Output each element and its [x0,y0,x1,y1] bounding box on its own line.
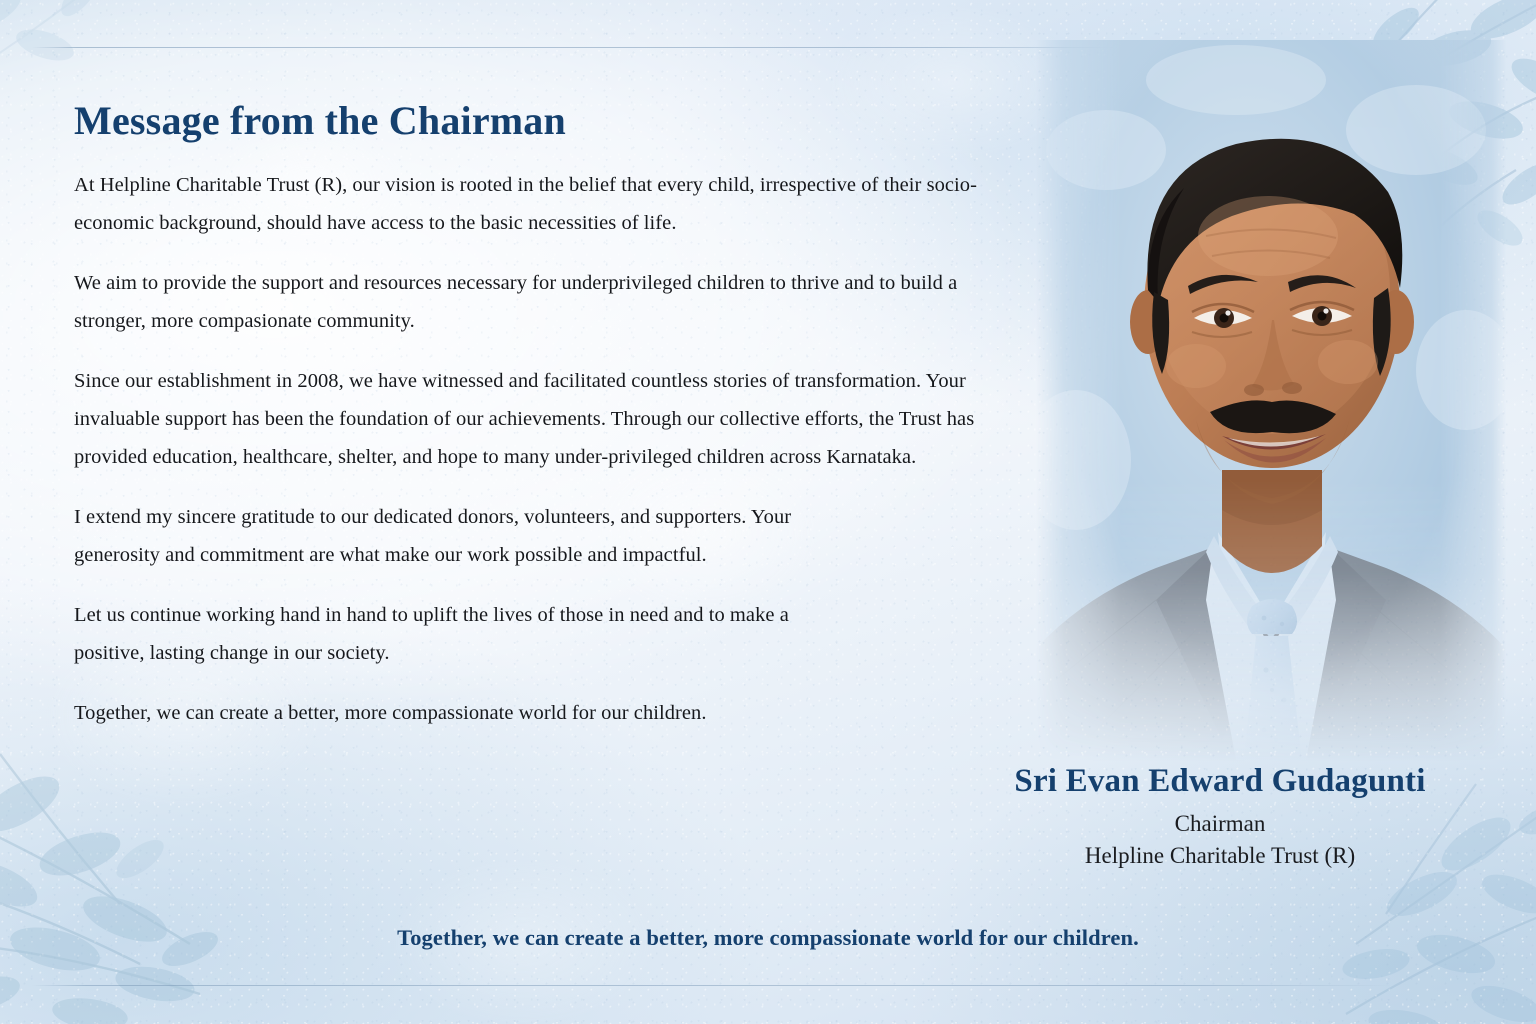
divider-bottom [32,985,1392,986]
letter-body: At Helpline Charitable Trust (R), our vi… [74,166,986,732]
chairman-portrait [1036,40,1506,800]
chairman-message-page: Message from the Chairman At Helpline Ch… [0,0,1536,1024]
signer-name: Sri Evan Edward Gudagunti [940,762,1500,802]
signer-organization: Helpline Charitable Trust (R) [940,842,1500,871]
letter-paragraph: Together, we can create a better, more c… [74,694,834,732]
letter-paragraph: Since our establishment in 2008, we have… [74,362,979,476]
letter-paragraph: We aim to provide the support and resour… [74,264,979,340]
footer-tagline: Together, we can create a better, more c… [0,925,1536,951]
letter-paragraph: At Helpline Charitable Trust (R), our vi… [74,166,979,242]
page-title: Message from the Chairman [74,99,566,143]
leaf-branch-icon [0,0,190,170]
letter-paragraph: I extend my sincere gratitude to our ded… [74,498,834,574]
divider-top [32,47,1142,48]
signature-block: Sri Evan Edward Gudagunti Chairman Helpl… [940,762,1500,871]
signer-role: Chairman [940,810,1500,839]
leaf-branch-icon [0,694,340,1024]
letter-paragraph: Let us continue working hand in hand to … [74,596,834,672]
